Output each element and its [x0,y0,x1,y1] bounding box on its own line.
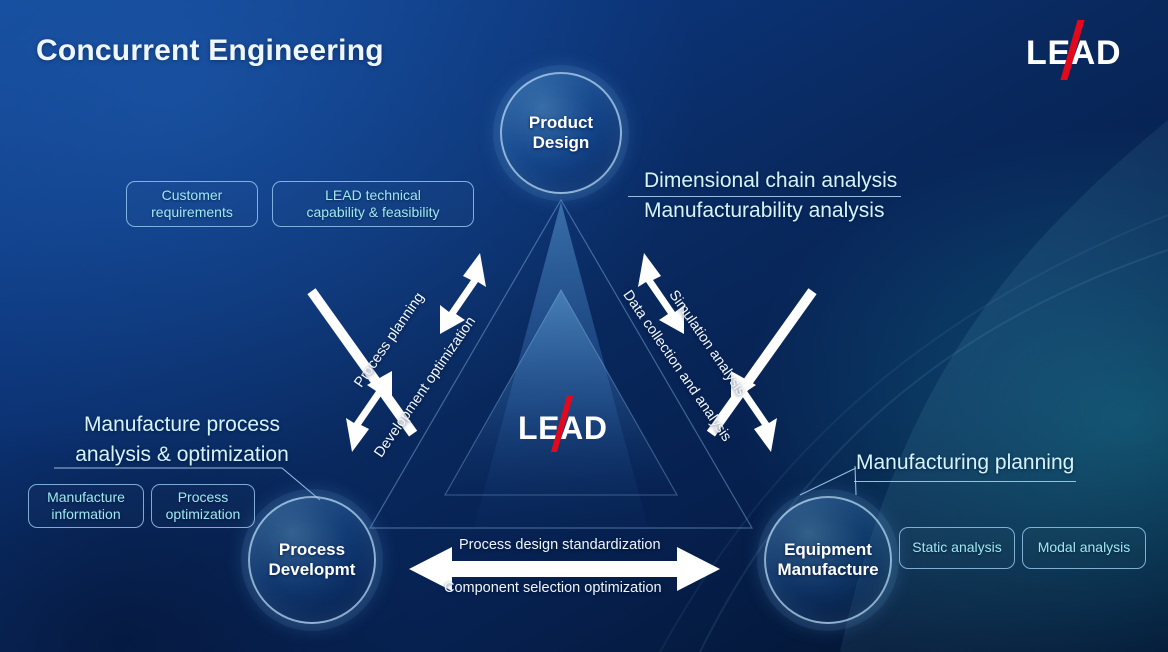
pill-customer-requirements[interactable]: Customer requirements [126,181,258,227]
pill-line2: optimization [166,506,241,522]
heading-underline [628,196,901,197]
lead-logo-corner: LEAD [1026,22,1126,78]
heading-manufacturing-planning: Manufacturing planning [856,448,1074,478]
pill-line1: Static analysis [912,539,1001,556]
pill-manufacture-information[interactable]: Manufacture information [28,484,144,528]
page-title: Concurrent Engineering [36,34,384,68]
heading-line2: Manufacturability analysis [644,199,884,222]
pill-line1: Process [178,489,229,505]
pill-static-analysis[interactable]: Static analysis [899,527,1015,569]
heading-line1: Dimensional chain analysis [644,169,897,192]
node-label-line2: Manufacture [777,560,878,579]
heading-dimensional-chain: Dimensional chain analysis Manufacturabi… [644,166,897,226]
lead-logo-center: LEAD [518,400,612,450]
pill-line1: Customer [162,187,223,203]
heading-line1: Manufacture process [84,413,280,436]
heading-manufacture-process: Manufacture process analysis & optimizat… [46,410,318,470]
pill-modal-analysis[interactable]: Modal analysis [1022,527,1146,569]
pill-line1: Modal analysis [1038,539,1131,556]
node-label-line1: Product [529,113,593,132]
node-equipment-manufacture[interactable]: Equipment Manufacture [764,496,892,624]
pill-process-optimization[interactable]: Process optimization [151,484,255,528]
arrow-label-component-selection-optimization: Component selection optimization [444,580,662,596]
pill-line2: capability & feasibility [306,204,439,220]
node-label-line1: Equipment [784,540,872,559]
pill-line2: requirements [151,204,233,220]
heading-line2: analysis & optimization [75,443,289,466]
node-label-line1: Process [279,540,345,559]
pill-line1: Manufacture [47,489,125,505]
arrow-label-process-design-standardization: Process design standardization [459,537,661,553]
pill-lead-technical[interactable]: LEAD technical capability & feasibility [272,181,474,227]
node-product-design[interactable]: Product Design [500,72,622,194]
heading-line1: Manufacturing planning [856,451,1074,474]
heading-underline [854,481,1076,482]
slide-canvas: Concurrent Engineering LEAD LEAD Product… [0,0,1168,652]
node-label-line2: Design [533,133,590,152]
pill-line2: information [51,506,120,522]
pill-line1: LEAD technical [325,187,421,203]
node-label-line2: Developmt [269,560,356,579]
node-process-development[interactable]: Process Developmt [248,496,376,624]
